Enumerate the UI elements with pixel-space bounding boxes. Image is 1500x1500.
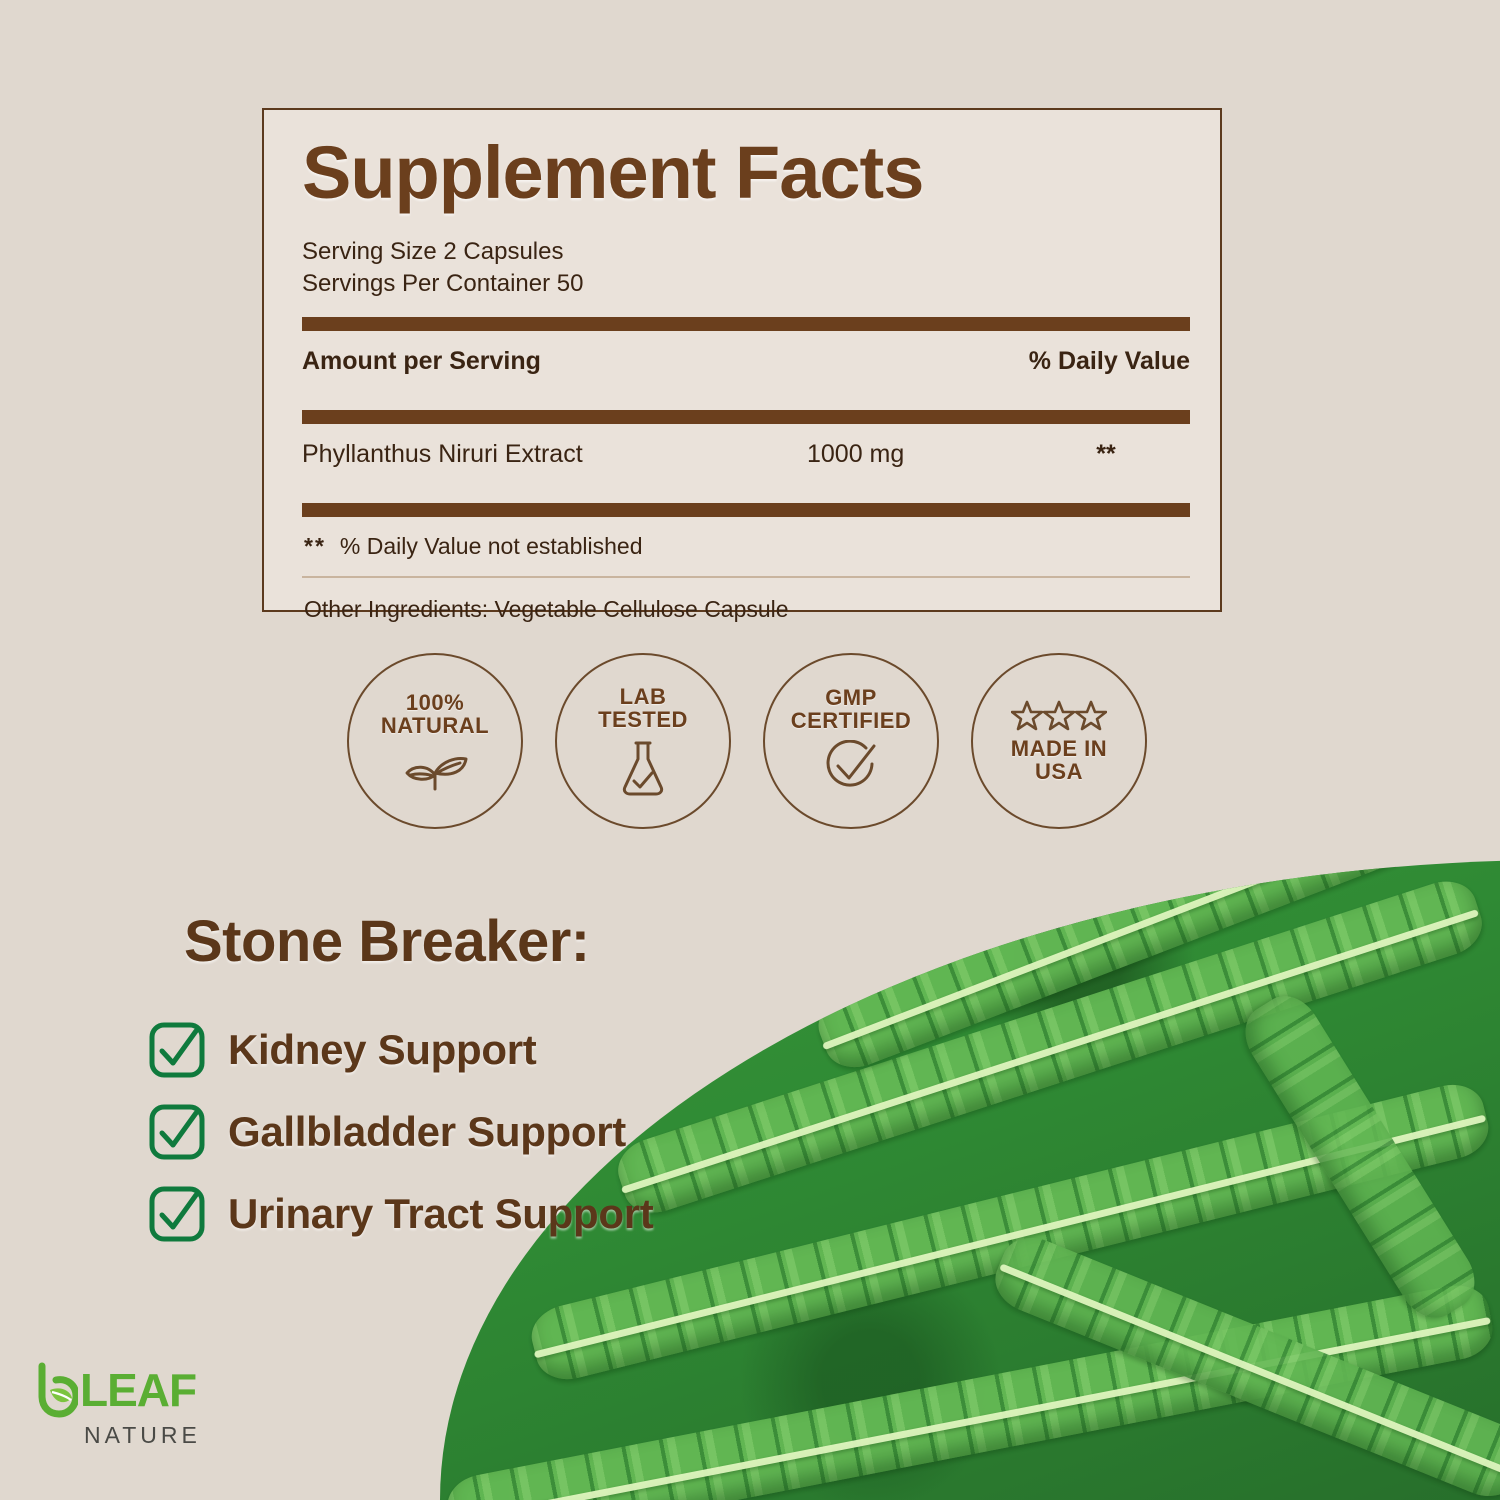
brand-logo: LEAF NATURE — [32, 1362, 232, 1468]
product-infographic: Supplement Facts Serving Size 2 Capsules… — [0, 0, 1500, 1500]
daily-value-footnote: **% Daily Value not established — [302, 517, 1190, 560]
serving-size-text: Serving Size 2 Capsules — [302, 236, 1190, 268]
benefit-label: Gallbladder Support — [228, 1108, 626, 1156]
supplement-facts-panel: Supplement Facts Serving Size 2 Capsules… — [262, 108, 1222, 612]
certification-badges: 100% NATURAL LAB TESTED — [347, 653, 1147, 831]
list-item: Gallbladder Support — [148, 1097, 788, 1167]
rule-below-rows — [302, 503, 1190, 517]
logo-tagline: NATURE — [84, 1422, 232, 1449]
badge-line1: GMP — [825, 685, 877, 710]
benefit-label: Kidney Support — [228, 1026, 536, 1074]
leaf-icon — [32, 1362, 78, 1418]
ingredient-daily-value: ** — [1022, 440, 1190, 469]
column-header-amount-per-serving: Amount per Serving — [302, 347, 807, 376]
badge-line2: CERTIFIED — [791, 709, 912, 732]
badge-line2: NATURAL — [381, 714, 489, 737]
table-row: Phyllanthus Niruri Extract 1000 mg ** — [302, 424, 1190, 485]
list-item: Urinary Tract Support — [148, 1179, 788, 1249]
rule-top — [302, 317, 1190, 331]
benefit-label: Urinary Tract Support — [228, 1190, 653, 1238]
benefits-list: Kidney Support Gallbladder Support Urina… — [148, 1015, 788, 1261]
checkbox-checked-icon — [148, 1103, 206, 1161]
badge-line1: LAB — [620, 684, 667, 709]
footnote-text: % Daily Value not established — [340, 533, 643, 559]
badge-line1: MADE IN — [1011, 736, 1107, 761]
badge-gmp-certified: GMP CERTIFIED — [763, 653, 939, 829]
circle-check-icon — [822, 740, 880, 796]
badge-line1: 100% — [406, 690, 464, 715]
footnote-marker: ** — [304, 533, 326, 559]
rule-below-header — [302, 410, 1190, 424]
lab-flask-check-icon — [618, 739, 668, 797]
servings-per-container-text: Servings Per Container 50 — [302, 268, 1190, 300]
other-ingredients-text: Other Ingredients: Vegetable Cellulose C… — [302, 578, 1190, 623]
three-stars-icon — [1011, 699, 1107, 731]
badge-line2: USA — [1011, 760, 1107, 783]
supplement-facts-title: Supplement Facts — [302, 136, 1190, 210]
checkbox-checked-icon — [148, 1185, 206, 1243]
badge-100-natural: 100% NATURAL — [347, 653, 523, 829]
ingredient-name: Phyllanthus Niruri Extract — [302, 440, 807, 469]
badge-line2: TESTED — [598, 708, 688, 731]
list-item: Kidney Support — [148, 1015, 788, 1085]
checkbox-checked-icon — [148, 1021, 206, 1079]
two-leaves-icon — [398, 745, 472, 791]
badge-lab-tested: LAB TESTED — [555, 653, 731, 829]
column-header-daily-value: % Daily Value — [1022, 347, 1190, 376]
badge-made-in-usa: MADE IN USA — [971, 653, 1147, 829]
benefits-heading: Stone Breaker: — [184, 908, 590, 975]
logo-wordmark: LEAF — [80, 1367, 196, 1413]
table-header-row: Amount per Serving % Daily Value — [302, 331, 1190, 392]
ingredient-amount: 1000 mg — [807, 440, 1022, 469]
